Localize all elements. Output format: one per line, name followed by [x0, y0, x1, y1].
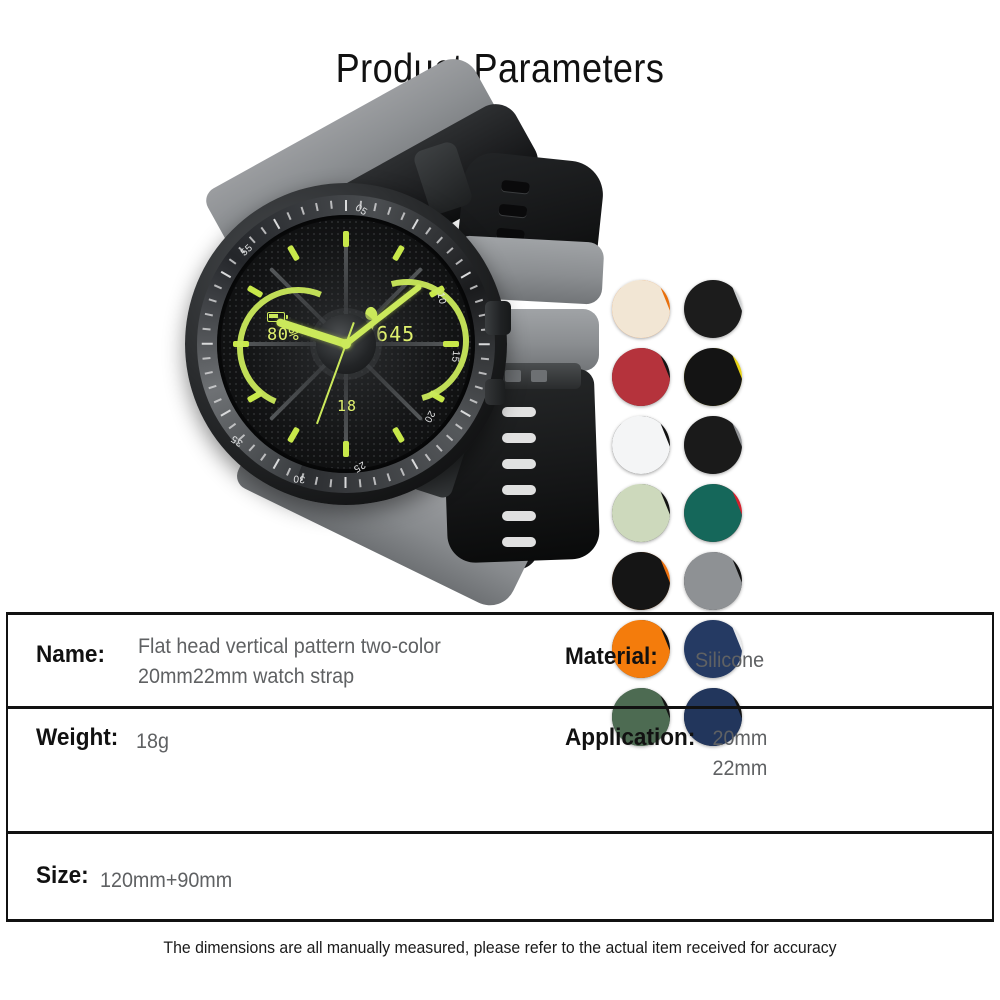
row-weight-value: 18g — [136, 727, 169, 757]
table-left-border — [6, 612, 8, 919]
row-material-label: Material: — [565, 643, 658, 671]
row-size-value: 120mm+90mm — [100, 866, 232, 896]
spec-table: Name: Flat head vertical pattern two-col… — [0, 0, 1000, 1000]
row-name-label: Name: — [36, 641, 105, 669]
table-divider — [6, 706, 994, 709]
product-parameters-page: Product Parameters — [0, 0, 1000, 1000]
row-material-value: Silicone — [695, 646, 764, 676]
table-divider — [6, 919, 994, 922]
row-application-value: 20mm 22mm — [707, 724, 773, 784]
measurement-disclaimer: The dimensions are all manually measured… — [35, 938, 965, 958]
table-divider — [6, 612, 994, 615]
row-weight-label: Weight: — [36, 724, 118, 752]
table-divider — [6, 831, 994, 834]
row-size-label: Size: — [36, 862, 89, 890]
table-right-border — [992, 612, 994, 919]
row-application-label: Application: — [565, 724, 695, 752]
row-name-value: Flat head vertical pattern two-color 20m… — [138, 632, 514, 692]
